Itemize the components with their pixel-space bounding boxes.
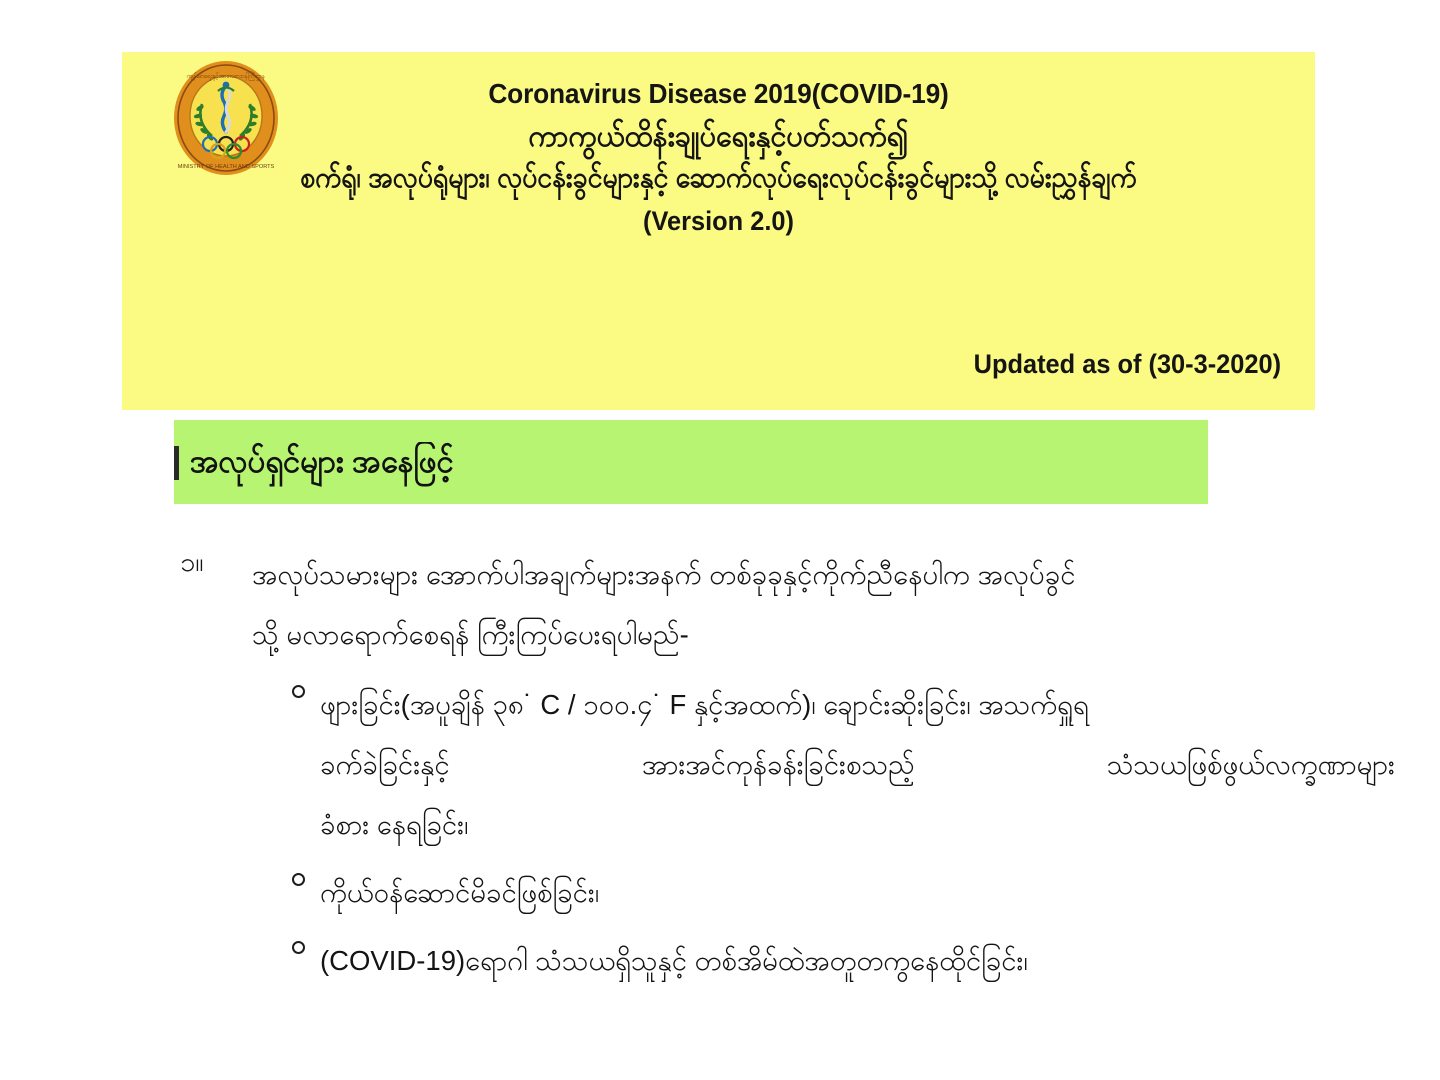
list-item-text: ဖျားခြင်း(အပူချိန် ၃၈˙ C / ၁၀၀.၄˙ F နှင့… — [320, 675, 1425, 855]
numbered-item-line-2: သို့ မလာရောက်စေရန် ကြီးကြပ်ပေးရပါမည်- — [252, 605, 1425, 665]
list-item-household-contact: (COVID-19)ရောဂါ သံသယရှိသူနှင့် တစ်အိမ်ထဲ… — [180, 931, 1425, 991]
header-text-block: Coronavirus Disease 2019(COVID-19) ကာကွယ… — [122, 52, 1315, 237]
numbered-item-text: အလုပ်သမားများ အောက်ပါအချက်များအနက် တစ်ခု… — [252, 545, 1425, 665]
page-bottom-edge — [0, 1054, 1440, 1080]
list-item-text: (COVID-19)ရောဂါ သံသယရှိသူနှင့် တစ်အိမ်ထဲ… — [320, 931, 1425, 991]
symptom-line-2-part-c: သံသယဖြစ်ဖွယ်လက္ခဏာများ — [1107, 735, 1395, 795]
numbered-item-marker: ၁။ — [180, 545, 203, 585]
document-title-myanmar-line-2: စက်ရုံ၊ အလုပ်ရုံများ၊ လုပ်ငန်းခွင်များနှ… — [170, 160, 1268, 198]
section-banner-label: အလုပ်ရှင်များ အနေဖြင့် — [190, 436, 454, 486]
symptom-line-2-part-b: အားအင်ကုန်ခန်းခြင်းစသည့် — [642, 735, 915, 795]
list-item-symptoms: ဖျားခြင်း(အပူချိန် ၃၈˙ C / ၁၀၀.၄˙ F နှင့… — [180, 675, 1425, 855]
section-banner: အလုပ်ရှင်များ အနေဖြင့် — [174, 420, 1208, 504]
symptom-line-2-part-a: ခက်ခဲခြင်းနှင့် — [320, 735, 450, 795]
document-version: (Version 2.0) — [158, 206, 1279, 237]
document-page: ကျန်းမာရေးနှင့်အားကစားဝန်ကြီးဌာန — [0, 0, 1440, 1080]
pregnancy-line-1: ကိုယ်ဝန်ဆောင်မိခင်ဖြစ်ခြင်း၊ — [320, 863, 1425, 923]
bullet-circle-icon — [292, 941, 305, 954]
list-item-pregnancy: ကိုယ်ဝန်ဆောင်မိခင်ဖြစ်ခြင်း၊ — [180, 863, 1425, 923]
bullet-circle-icon — [292, 685, 305, 698]
header-banner: ကျန်းမာရေးနှင့်အားကစားဝန်ကြီးဌာန — [122, 52, 1315, 410]
household-contact-line-1: (COVID-19)ရောဂါ သံသယရှိသူနှင့် တစ်အိမ်ထဲ… — [320, 931, 1425, 991]
document-updated-date: Updated as of (30-3-2020) — [974, 349, 1281, 380]
content-body: ၁။ အလုပ်သမားများ အောက်ပါအချက်များအနက် တစ… — [180, 545, 1425, 999]
list-item-text: ကိုယ်ဝန်ဆောင်မိခင်ဖြစ်ခြင်း၊ — [320, 863, 1425, 923]
document-title-english: Coronavirus Disease 2019(COVID-19) — [158, 76, 1279, 111]
bullet-circle-icon — [292, 873, 305, 886]
section-banner-accent-mark — [174, 446, 179, 480]
symptom-line-3: ခံစား နေရခြင်း၊ — [320, 795, 1425, 855]
document-title-myanmar-line-1: ကာကွယ်ထိန်းချုပ်ရေးနှင့်ပတ်သက်၍ — [146, 117, 1291, 156]
numbered-item-1: ၁။ အလုပ်သမားများ အောက်ပါအချက်များအနက် တစ… — [180, 545, 1425, 991]
symptom-line-2: ခက်ခဲခြင်းနှင့် အားအင်ကုန်ခန်းခြင်းစသည့်… — [320, 735, 1395, 795]
numbered-item-line-1: အလုပ်သမားများ အောက်ပါအချက်များအနက် တစ်ခု… — [252, 545, 1425, 605]
symptom-line-1: ဖျားခြင်း(အပူချိန် ၃၈˙ C / ၁၀၀.၄˙ F နှင့… — [320, 675, 1425, 735]
bullet-list: ဖျားခြင်း(အပူချိန် ၃၈˙ C / ၁၀၀.၄˙ F နှင့… — [180, 675, 1425, 991]
